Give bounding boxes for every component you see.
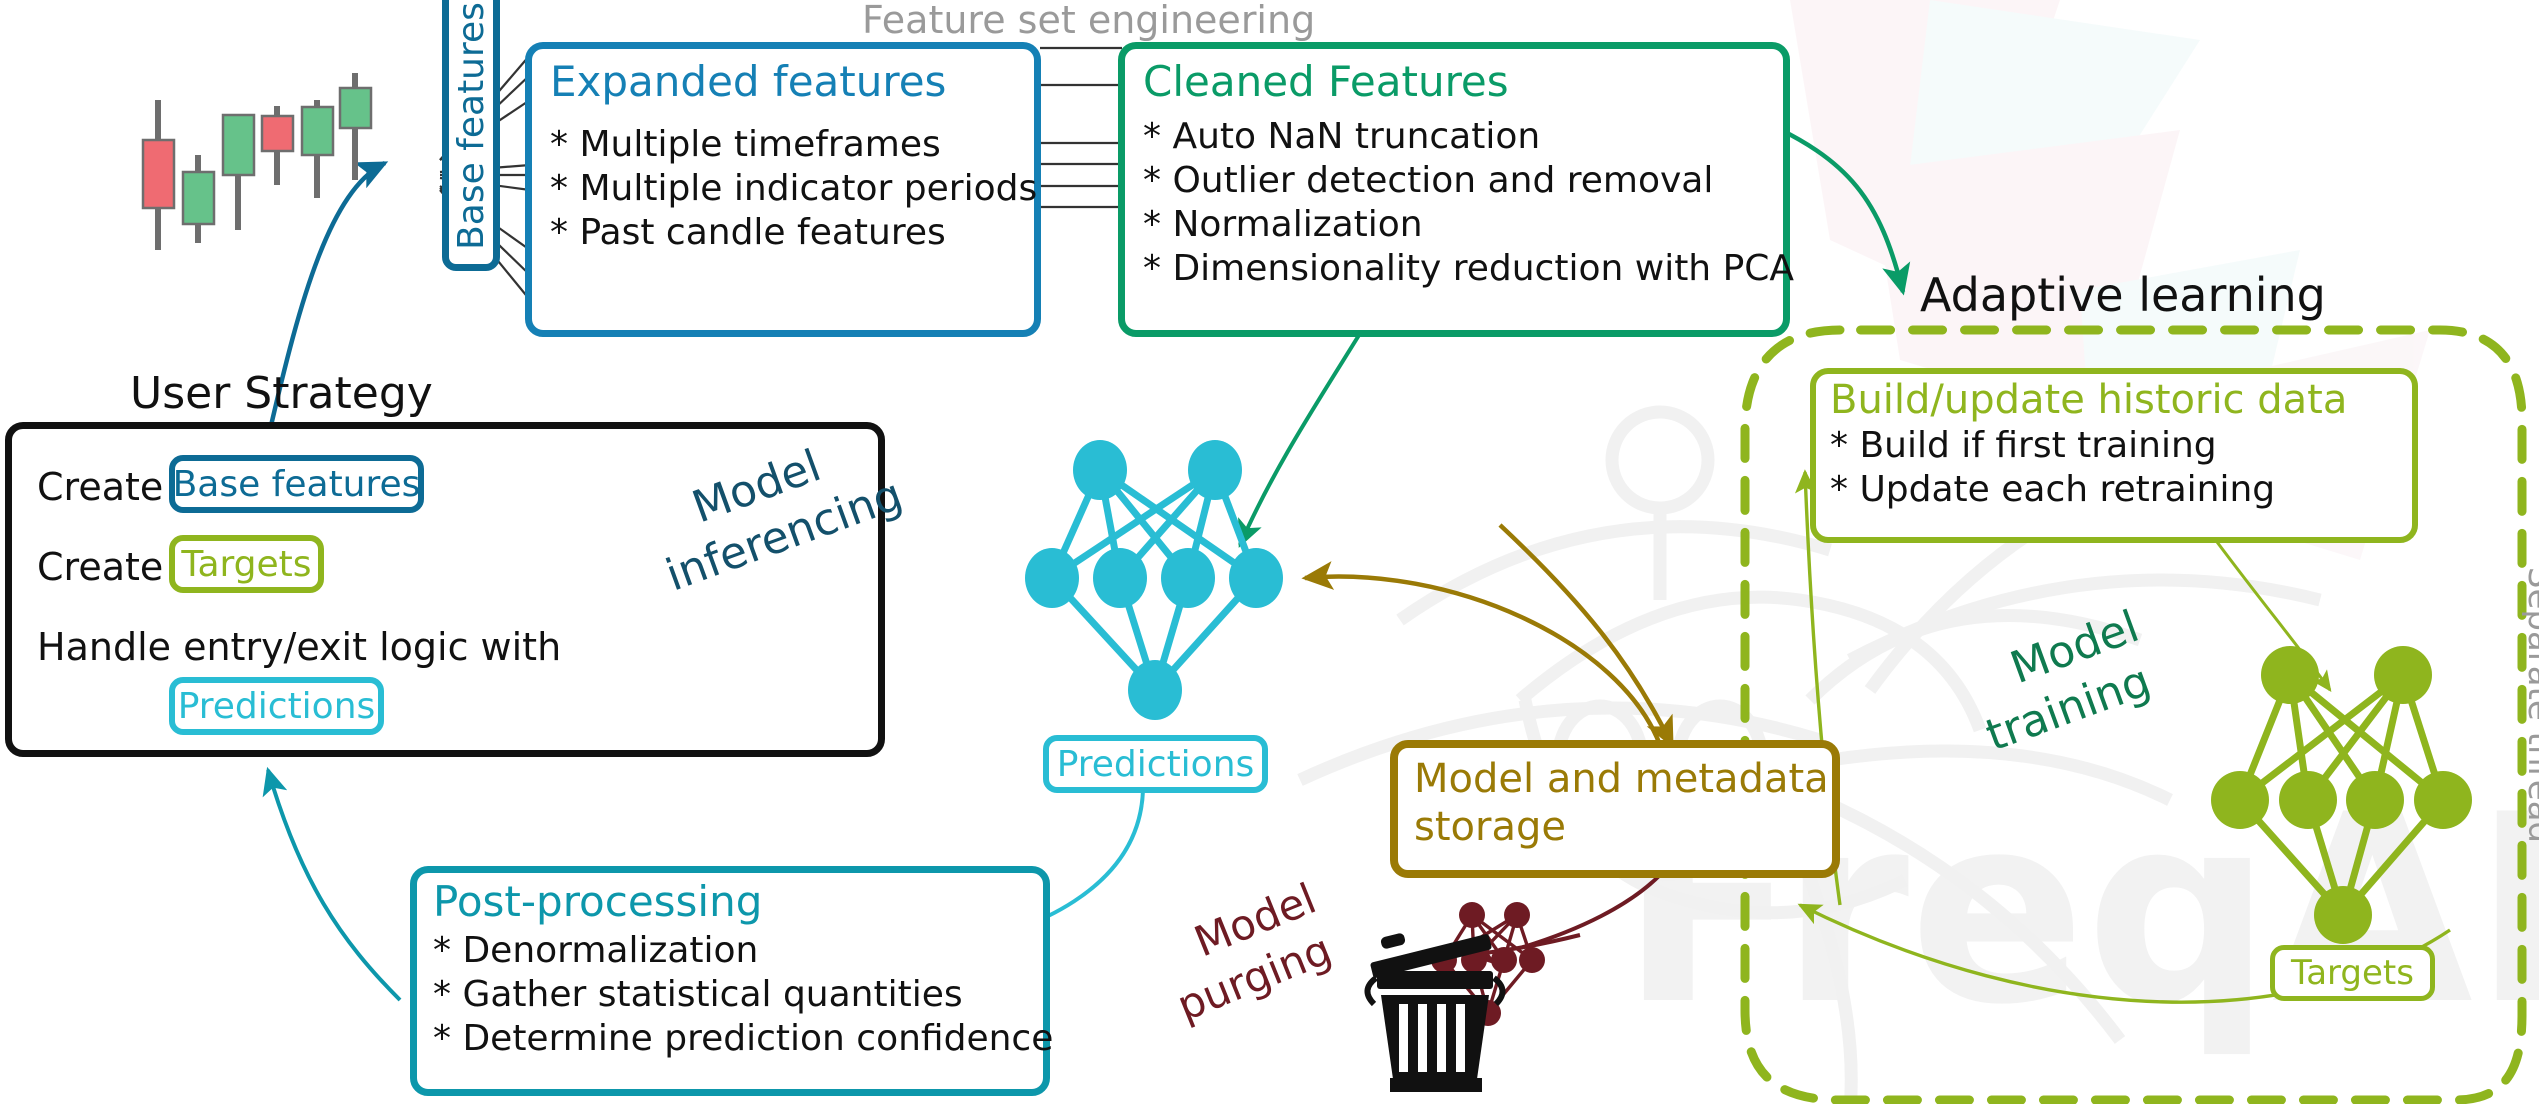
cleaned-features-box: Cleaned Features * Auto NaN truncation *… xyxy=(1118,42,1790,337)
storage-line-1: Model and metadata xyxy=(1414,756,1832,802)
pill-predictions-output: Predictions xyxy=(1043,735,1268,793)
model-training-label: Model training xyxy=(1960,599,2165,763)
pill-base-features: Base features xyxy=(169,455,424,513)
model-metadata-storage-box: Model and metadata storage xyxy=(1390,740,1840,878)
pill-targets: Targets xyxy=(169,535,324,593)
cleaned-features-bullet: * Normalization xyxy=(1143,203,1783,247)
user-strategy-create-label-2: Create xyxy=(37,545,163,589)
user-strategy-create-label-1: Create xyxy=(37,465,163,509)
build-update-bullet: * Build if first training xyxy=(1830,424,2412,468)
model-purging-label: Model purging xyxy=(1150,873,1343,1033)
separate-thread-label: Separate thread xyxy=(2520,555,2539,855)
pill-base-features-vertical: Base features xyxy=(442,0,500,271)
build-update-bullet: * Update each retraining xyxy=(1830,468,2412,512)
expanded-features-box: Expanded features * Multiple timeframes … xyxy=(525,42,1041,337)
cleaned-features-bullet: * Dimensionality reduction with PCA xyxy=(1143,247,1783,291)
storage-line-2: storage xyxy=(1414,804,1832,850)
pill-targets-output: Targets xyxy=(2270,945,2435,1001)
post-processing-bullet: * Gather statistical quantities xyxy=(433,973,1043,1017)
post-processing-bullet: * Determine prediction confidence xyxy=(433,1017,1043,1061)
candlestick-chart xyxy=(143,73,371,250)
expanded-features-bullet: * Multiple indicator periods xyxy=(550,167,1034,211)
expanded-features-bullet: * Past candle features xyxy=(550,211,1034,255)
expanded-features-bullet: * Multiple timeframes xyxy=(550,123,1034,167)
feature-set-engineering-header: Feature set engineering xyxy=(862,0,1315,42)
diagram-canvas: FreqAI xyxy=(0,0,2539,1104)
post-processing-bullet: * Denormalization xyxy=(433,929,1043,973)
cleaned-features-bullet: * Auto NaN truncation xyxy=(1143,115,1783,159)
user-strategy-entry-exit-label: Handle entry/exit logic with xyxy=(37,625,561,669)
expanded-features-title: Expanded features xyxy=(550,59,1034,105)
build-update-title: Build/update historic data xyxy=(1830,378,2412,422)
pill-predictions-strategy: Predictions xyxy=(169,677,384,735)
post-processing-box: Post-processing * Denormalization * Gath… xyxy=(410,866,1050,1096)
trash-can-icon xyxy=(1367,932,1502,1092)
build-update-historic-data-box: Build/update historic data * Build if fi… xyxy=(1810,368,2418,543)
cleaned-features-title: Cleaned Features xyxy=(1143,59,1783,105)
post-processing-title: Post-processing xyxy=(433,879,1043,925)
user-strategy-title: User Strategy xyxy=(130,368,433,419)
cleaned-features-bullet: * Outlier detection and removal xyxy=(1143,159,1783,203)
adaptive-learning-header: Adaptive learning xyxy=(1920,268,2326,322)
